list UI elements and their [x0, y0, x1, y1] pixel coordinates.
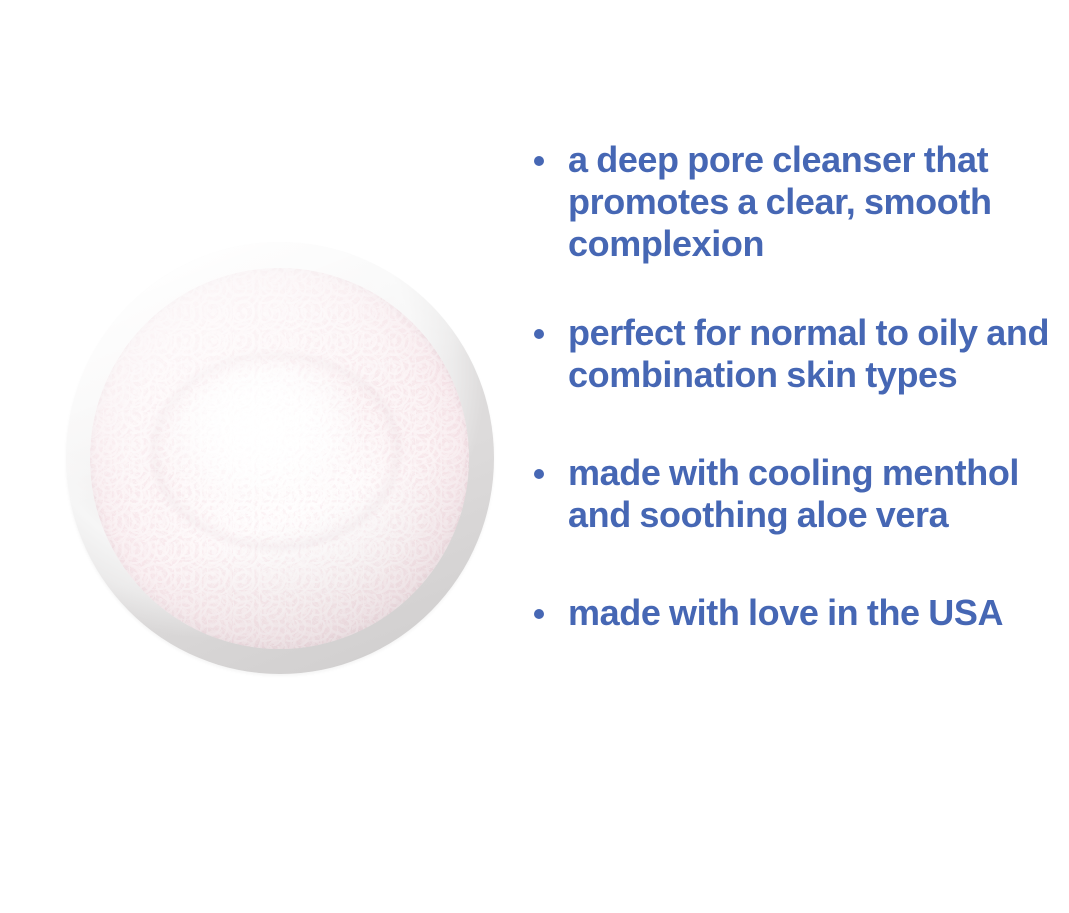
- bullet-icon: [534, 329, 544, 339]
- benefit-item: perfect for normal to oily and combinati…: [528, 312, 1069, 396]
- product-feature-page: a deep pore cleanser that promotes a cle…: [0, 0, 1069, 913]
- benefit-text: perfect for normal to oily and combinati…: [568, 312, 1069, 396]
- benefit-text: made with love in the USA: [568, 592, 1069, 634]
- powder-mound-highlight: [166, 367, 386, 542]
- benefit-item: made with cooling menthol and soothing a…: [528, 452, 1069, 536]
- benefit-item: a deep pore cleanser that promotes a cle…: [528, 139, 1069, 265]
- product-benefits-list: a deep pore cleanser that promotes a cle…: [528, 139, 1069, 634]
- bullet-icon: [534, 609, 544, 619]
- bullet-icon: [534, 469, 544, 479]
- powder-fill: [90, 268, 469, 649]
- powder-inner-shadow: [151, 352, 401, 550]
- product-image-jar-of-powder: [66, 242, 494, 674]
- benefit-text: made with cooling menthol and soothing a…: [568, 452, 1069, 536]
- benefit-text: a deep pore cleanser that promotes a cle…: [568, 139, 1069, 265]
- powder-edge-tint: [90, 268, 469, 649]
- benefit-item: made with love in the USA: [528, 592, 1069, 634]
- powder-texture: [90, 268, 469, 649]
- bullet-icon: [534, 156, 544, 166]
